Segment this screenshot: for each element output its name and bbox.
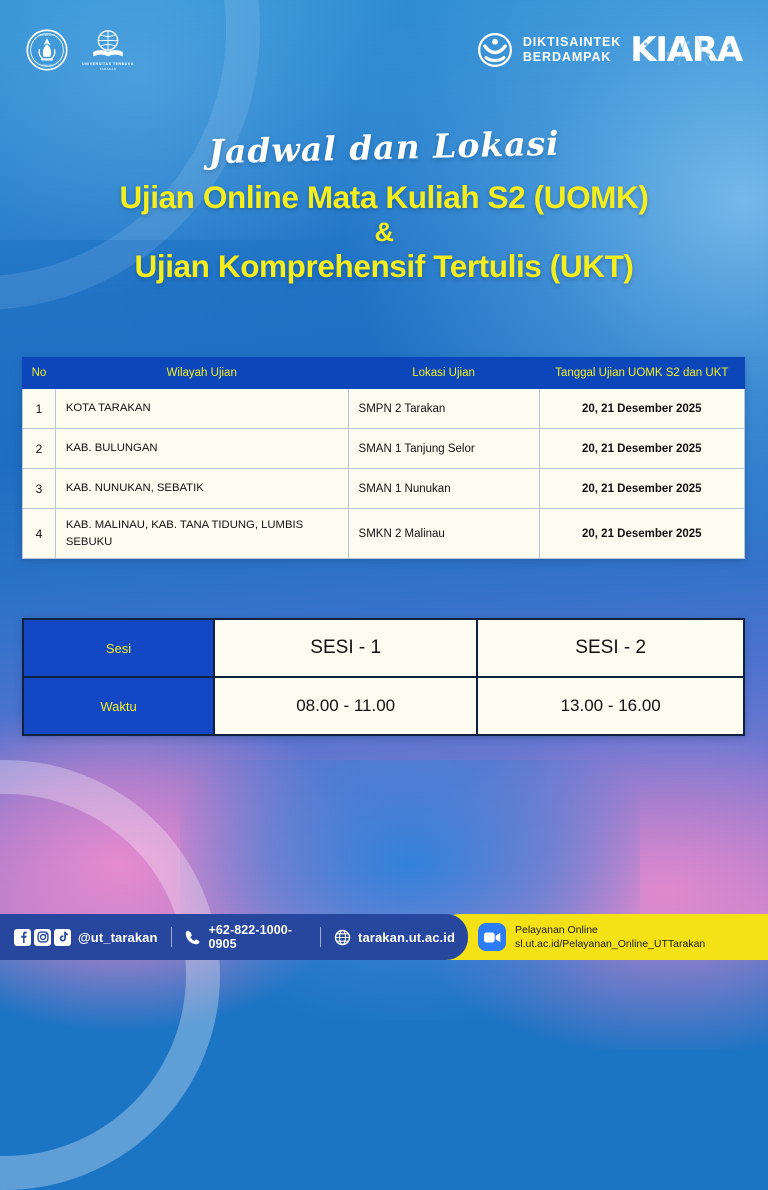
kiara-wordmark-wrap: KIARA (630, 35, 742, 66)
title-line-1: Ujian Online Mata Kuliah S2 (UOMK) (0, 177, 768, 218)
cell-no: 3 (23, 469, 56, 509)
social-handle-text: @ut_tarakan (78, 930, 158, 945)
session-2-name: SESI - 2 (477, 619, 744, 677)
column-header-tanggal: Tanggal Ujian UOMK S2 dan UKT (539, 358, 744, 389)
diktisaintek-icon (476, 31, 514, 69)
globe-icon (334, 929, 351, 946)
cell-tanggal: 20, 21 Desember 2025 (539, 429, 744, 469)
svg-text:UNIVERSITAS: UNIVERSITAS (39, 34, 56, 37)
facebook-icon[interactable] (14, 929, 31, 946)
tiktok-icon[interactable] (54, 929, 71, 946)
footer-website-segment[interactable]: tarakan.ut.ac.id (321, 929, 468, 946)
header-left-logos: UNIVERSITAS TERBUKA UNIVERSITAS TERBUKA … (26, 29, 134, 72)
cell-tanggal: 20, 21 Desember 2025 (539, 509, 744, 559)
session-1-time: 08.00 - 11.00 (214, 677, 477, 735)
brand-line-1: DIKTISAINTEK (523, 35, 621, 50)
kiara-wordmark: KIARA (630, 35, 742, 66)
diktisaintek-text: DIKTISAINTEK BERDAMPAK (523, 35, 621, 65)
table-row: 4 KAB. MALINAU, KAB. TANA TIDUNG, LUMBIS… (23, 509, 745, 559)
title-main: Ujian Online Mata Kuliah S2 (UOMK) & Uji… (0, 177, 768, 287)
service-title: Pelayanan Online (515, 923, 705, 937)
session-1-name: SESI - 1 (214, 619, 477, 677)
university-seal-icon: UNIVERSITAS TERBUKA (26, 29, 68, 71)
title-script: Jadwal dan Lokasi (0, 119, 768, 177)
footer-service-panel[interactable]: Pelayanan Online sl.ut.ac.id/Pelayanan_O… (438, 914, 768, 960)
cell-lokasi: SMAN 1 Nunukan (348, 469, 539, 509)
title-line-3: Ujian Komprehensif Tertulis (UKT) (0, 246, 768, 287)
poster-header: UNIVERSITAS TERBUKA UNIVERSITAS TERBUKA … (0, 0, 768, 100)
phone-icon (184, 929, 201, 946)
table-row: 1 KOTA TARAKAN SMPN 2 Tarakan 20, 21 Des… (23, 389, 745, 429)
session-label-sesi: Sesi (23, 619, 214, 677)
brand-line-2: BERDAMPAK (523, 50, 621, 65)
schedule-table: No Wilayah Ujian Lokasi Ujian Tanggal Uj… (22, 357, 745, 559)
cell-tanggal: 20, 21 Desember 2025 (539, 469, 744, 509)
cell-wilayah: KAB. BULUNGAN (55, 429, 348, 469)
phone-text: +62-822-1000-0905 (208, 923, 307, 951)
service-url: sl.ut.ac.id/Pelayanan_Online_UTTarakan (515, 937, 705, 951)
cell-no: 2 (23, 429, 56, 469)
column-header-no: No (23, 358, 56, 389)
title-block: Jadwal dan Lokasi Ujian Online Mata Kuli… (0, 128, 768, 287)
zoom-video-icon (478, 923, 506, 951)
open-book-globe-icon (91, 29, 125, 61)
footer-social-segment[interactable]: @ut_tarakan (14, 929, 171, 946)
cell-lokasi: SMKN 2 Malinau (348, 509, 539, 559)
cell-lokasi: SMAN 1 Tanjung Selor (348, 429, 539, 469)
title-ampersand: & (0, 218, 768, 246)
session-row-sesi: Sesi SESI - 1 SESI - 2 (23, 619, 744, 677)
cell-no: 1 (23, 389, 56, 429)
cell-no: 4 (23, 509, 56, 559)
table-row: 2 KAB. BULUNGAN SMAN 1 Tanjung Selor 20,… (23, 429, 745, 469)
header-brand: DIKTISAINTEK BERDAMPAK KIARA (476, 31, 742, 69)
instagram-icon[interactable] (34, 929, 51, 946)
social-icons[interactable] (14, 929, 71, 946)
video-camera-icon (484, 929, 501, 946)
footer-service-text: Pelayanan Online sl.ut.ac.id/Pelayanan_O… (515, 923, 705, 951)
poster-footer: Pelayanan Online sl.ut.ac.id/Pelayanan_O… (0, 914, 768, 960)
svg-text:TERBUKA: TERBUKA (41, 64, 53, 67)
session-label-waktu: Waktu (23, 677, 214, 735)
footer-phone-segment[interactable]: +62-822-1000-0905 (171, 923, 320, 951)
footer-contact-bar: @ut_tarakan +62-822-1000-0905 tarakan.ut… (0, 914, 468, 960)
column-header-lokasi: Lokasi Ujian (348, 358, 539, 389)
cell-tanggal: 20, 21 Desember 2025 (539, 389, 744, 429)
session-row-waktu: Waktu 08.00 - 11.00 13.00 - 16.00 (23, 677, 744, 735)
ut-logo-line2: TARAKAN (100, 67, 117, 71)
cell-wilayah: KAB. MALINAU, KAB. TANA TIDUNG, LUMBIS S… (55, 509, 348, 559)
table-header-row: No Wilayah Ujian Lokasi Ujian Tanggal Uj… (23, 358, 745, 389)
cell-wilayah: KOTA TARAKAN (55, 389, 348, 429)
website-text: tarakan.ut.ac.id (358, 930, 455, 945)
cell-lokasi: SMPN 2 Tarakan (348, 389, 539, 429)
ut-logo-line1: UNIVERSITAS TERBUKA (82, 62, 134, 67)
column-header-wilayah: Wilayah Ujian (55, 358, 348, 389)
cell-wilayah: KAB. NUNUKAN, SEBATIK (55, 469, 348, 509)
session-2-time: 13.00 - 16.00 (477, 677, 744, 735)
session-table: Sesi SESI - 1 SESI - 2 Waktu 08.00 - 11.… (22, 618, 745, 736)
table-row: 3 KAB. NUNUKAN, SEBATIK SMAN 1 Nunukan 2… (23, 469, 745, 509)
universitas-terbuka-logo: UNIVERSITAS TERBUKA TARAKAN (82, 29, 134, 72)
